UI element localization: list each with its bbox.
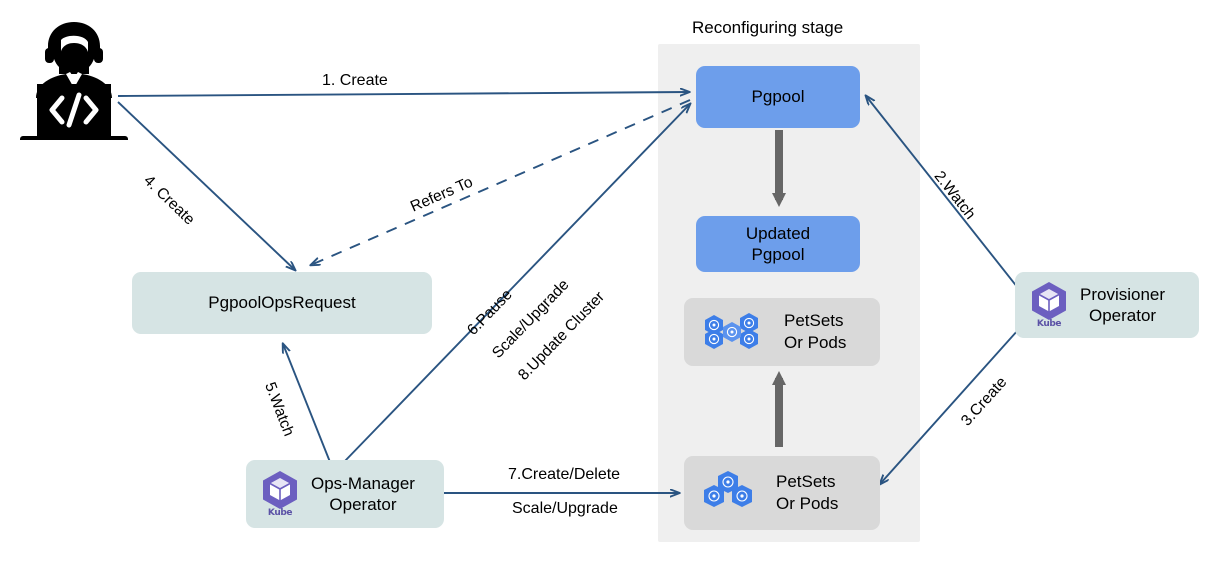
- kubernetes-pods-cluster-icon: [700, 308, 772, 356]
- pgpool-ops-request-label: PgpoolOpsRequest: [208, 292, 355, 313]
- provisioner-operator-label: Provisioner Operator: [1080, 284, 1165, 327]
- developer-icon: [14, 12, 134, 140]
- diagram-canvas: Reconfiguring stage: [0, 0, 1214, 568]
- provisioner-operator-node[interactable]: Kube Provisioner Operator: [1015, 272, 1199, 338]
- petsets-top-line1: PetSets: [784, 310, 846, 332]
- petsets-or-pods-bottom-node[interactable]: PetSets Or Pods: [684, 456, 880, 530]
- pgpool-ops-request-node[interactable]: PgpoolOpsRequest: [132, 272, 432, 334]
- edge-5-watch: [283, 344, 330, 462]
- edge-label-scale-upgrade: Scale/Upgrade: [512, 500, 618, 518]
- ops-manager-operator-line2: Operator: [311, 494, 415, 515]
- petsets-top-label: PetSets Or Pods: [784, 310, 846, 354]
- ops-manager-operator-label: Ops-Manager Operator: [311, 473, 415, 516]
- provisioner-operator-line2: Operator: [1080, 305, 1165, 326]
- provisioner-operator-line1: Provisioner: [1080, 284, 1165, 305]
- kubedb-wordmark: Kube: [1027, 319, 1071, 330]
- petsets-bottom-label: PetSets Or Pods: [776, 471, 838, 515]
- edge-3-create: [880, 330, 1018, 484]
- kubedb-wordmark: Kube: [258, 508, 302, 519]
- ops-manager-operator-line1: Ops-Manager: [311, 473, 415, 494]
- pgpool-label: Pgpool: [752, 86, 805, 107]
- edge-label-1-create: 1. Create: [322, 72, 388, 90]
- petsets-bottom-line1: PetSets: [776, 471, 838, 493]
- ops-manager-operator-node[interactable]: Kube Ops-Manager Operator: [246, 460, 444, 528]
- edge-1-create: [118, 92, 689, 96]
- updated-pgpool-label-line1: Updated: [746, 223, 810, 244]
- edge-refers-to: [311, 100, 690, 265]
- kubedb-logo-icon: Kube: [1027, 280, 1071, 330]
- kubernetes-pods-icon: [700, 470, 764, 516]
- updated-pgpool-label-line2: Pgpool: [752, 244, 805, 265]
- pgpool-node[interactable]: Pgpool: [696, 66, 860, 128]
- updated-pgpool-node[interactable]: Updated Pgpool: [696, 216, 860, 272]
- kubedb-logo-icon: Kube: [258, 469, 302, 519]
- edge-label-7-create-delete: 7.Create/Delete: [508, 466, 620, 484]
- petsets-or-pods-top-node[interactable]: PetSets Or Pods: [684, 298, 880, 366]
- petsets-bottom-line2: Or Pods: [776, 493, 838, 515]
- petsets-top-line2: Or Pods: [784, 332, 846, 354]
